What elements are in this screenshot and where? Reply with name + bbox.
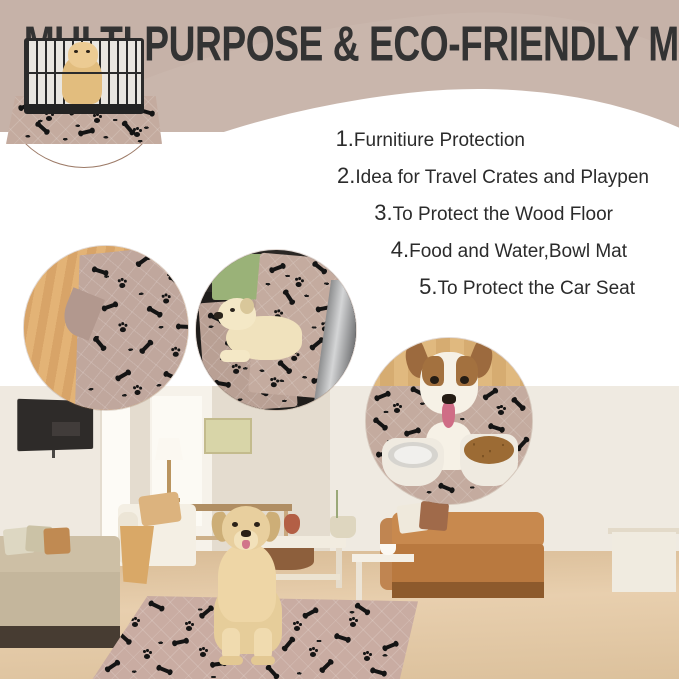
dog-nose <box>442 394 456 404</box>
dog-paw <box>220 350 250 362</box>
dog-eye-left <box>232 522 238 527</box>
armchair-cushion <box>138 491 182 526</box>
golden-retriever-dog <box>188 500 304 672</box>
list-item-label: Furnitiure Protection <box>354 130 525 151</box>
cabinet <box>612 532 676 592</box>
television-cable <box>52 450 55 458</box>
list-item-number: 2. <box>337 163 355 188</box>
leather-sofa-seat <box>392 544 544 586</box>
sofa-left-base <box>0 626 120 648</box>
list-item-number: 3. <box>374 200 392 225</box>
throw-pillow <box>419 501 449 531</box>
list-item-number: 5. <box>419 274 437 299</box>
list-item-number: 4. <box>391 237 409 262</box>
list-item: 2.Idea for Travel Crates and Playpen <box>229 165 649 187</box>
side-table-top <box>352 554 414 562</box>
list-item: 3.To Protect the Wood Floor <box>229 202 613 224</box>
television-glare <box>52 422 80 436</box>
dog-eye-right <box>254 522 260 527</box>
dog-paw-left <box>219 656 243 665</box>
wall-art-middle <box>204 418 252 454</box>
dog-eye-left <box>74 50 78 53</box>
dog-head <box>68 42 98 68</box>
dog-tongue <box>442 402 455 428</box>
dog-eye <box>230 308 235 312</box>
dog-nose <box>214 312 223 319</box>
list-item: 1.Furnitiure Protection <box>229 128 525 150</box>
dog-eye-right <box>86 50 90 53</box>
water <box>394 446 432 464</box>
list-item-label: To Protect the Wood Floor <box>393 204 613 225</box>
inset-car-seat <box>196 250 356 410</box>
inset-wood-floor <box>24 246 188 410</box>
dog-ear <box>240 298 254 314</box>
crate-base-tray <box>24 104 144 114</box>
list-item-label: Idea for Travel Crates and Playpen <box>355 167 649 188</box>
plant-stem <box>336 490 338 518</box>
list-item-label: Food and Water,Bowl Mat <box>409 241 627 262</box>
list-item-number: 1. <box>336 126 354 151</box>
inset-bowl-mat <box>366 338 532 504</box>
list-item-label: To Protect the Car Seat <box>438 278 636 299</box>
dog-paw-right <box>251 656 275 665</box>
throw-pillow <box>43 527 70 554</box>
dog-nose <box>241 530 251 537</box>
leather-sofa-base <box>392 582 544 598</box>
table-lamp-shade <box>155 438 183 460</box>
coffee-table-leg <box>336 548 342 588</box>
dog-eye-right <box>460 376 469 384</box>
dog-food-kibble <box>464 436 514 464</box>
dog-tongue <box>242 540 250 549</box>
dog-chest <box>218 544 276 622</box>
crate-crossbar <box>27 72 141 74</box>
plant-pot <box>330 516 356 538</box>
dog-eye-left <box>430 376 439 384</box>
